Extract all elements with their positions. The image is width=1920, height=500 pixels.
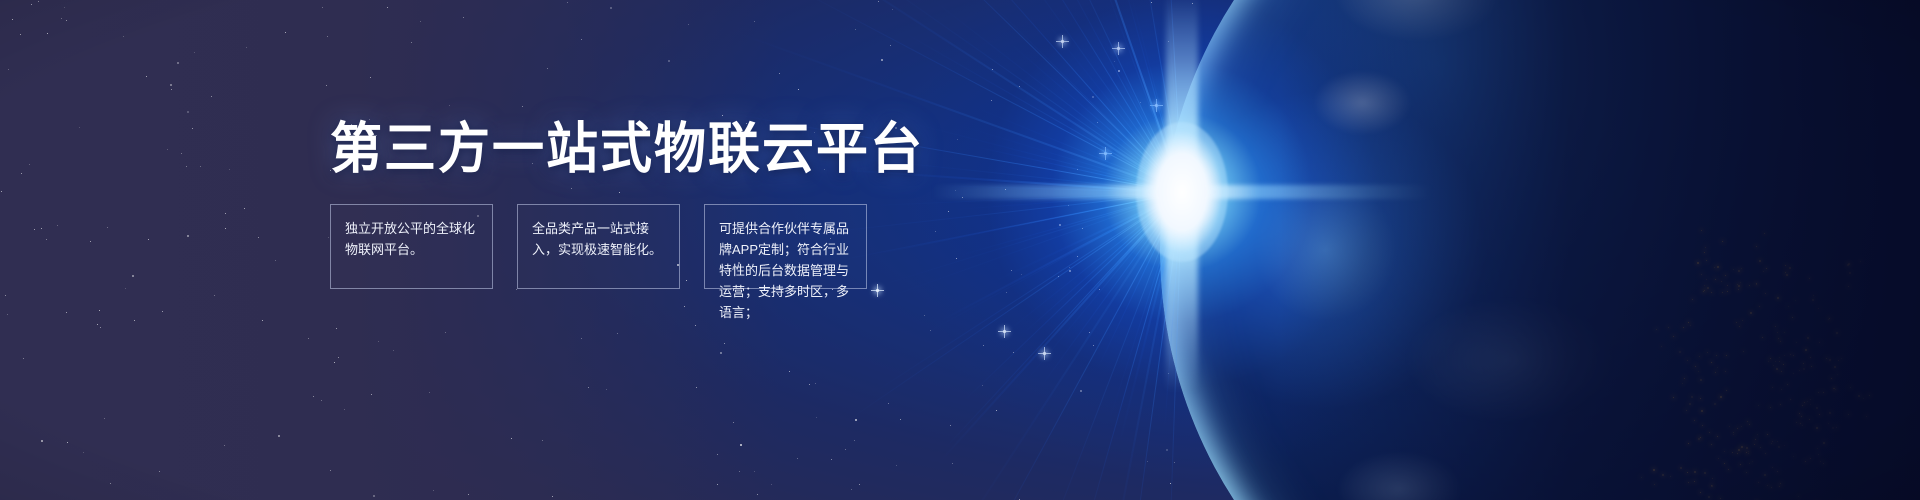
feature-card-text: 独立开放公平的全球化物联网平台。 [345,218,478,260]
feature-card-list: 独立开放公平的全球化物联网平台。 全品类产品一站式接入，实现极速智能化。 可提供… [330,204,867,289]
feature-card-text: 全品类产品一站式接入，实现极速智能化。 [532,218,665,260]
hero-content: 第三方一站式物联云平台 独立开放公平的全球化物联网平台。 全品类产品一站式接入，… [0,0,1920,500]
feature-card-brand-custom: 可提供合作伙伴专属品牌APP定制；符合行业特性的后台数据管理与运营；支持多时区，… [704,204,867,289]
feature-card-text: 可提供合作伙伴专属品牌APP定制；符合行业特性的后台数据管理与运营；支持多时区，… [719,218,852,323]
feature-card-global-platform: 独立开放公平的全球化物联网平台。 [330,204,493,289]
hero-banner: 第三方一站式物联云平台 独立开放公平的全球化物联网平台。 全品类产品一站式接入，… [0,0,1920,500]
page-title: 第三方一站式物联云平台 [330,104,924,184]
feature-card-full-category: 全品类产品一站式接入，实现极速智能化。 [517,204,680,289]
